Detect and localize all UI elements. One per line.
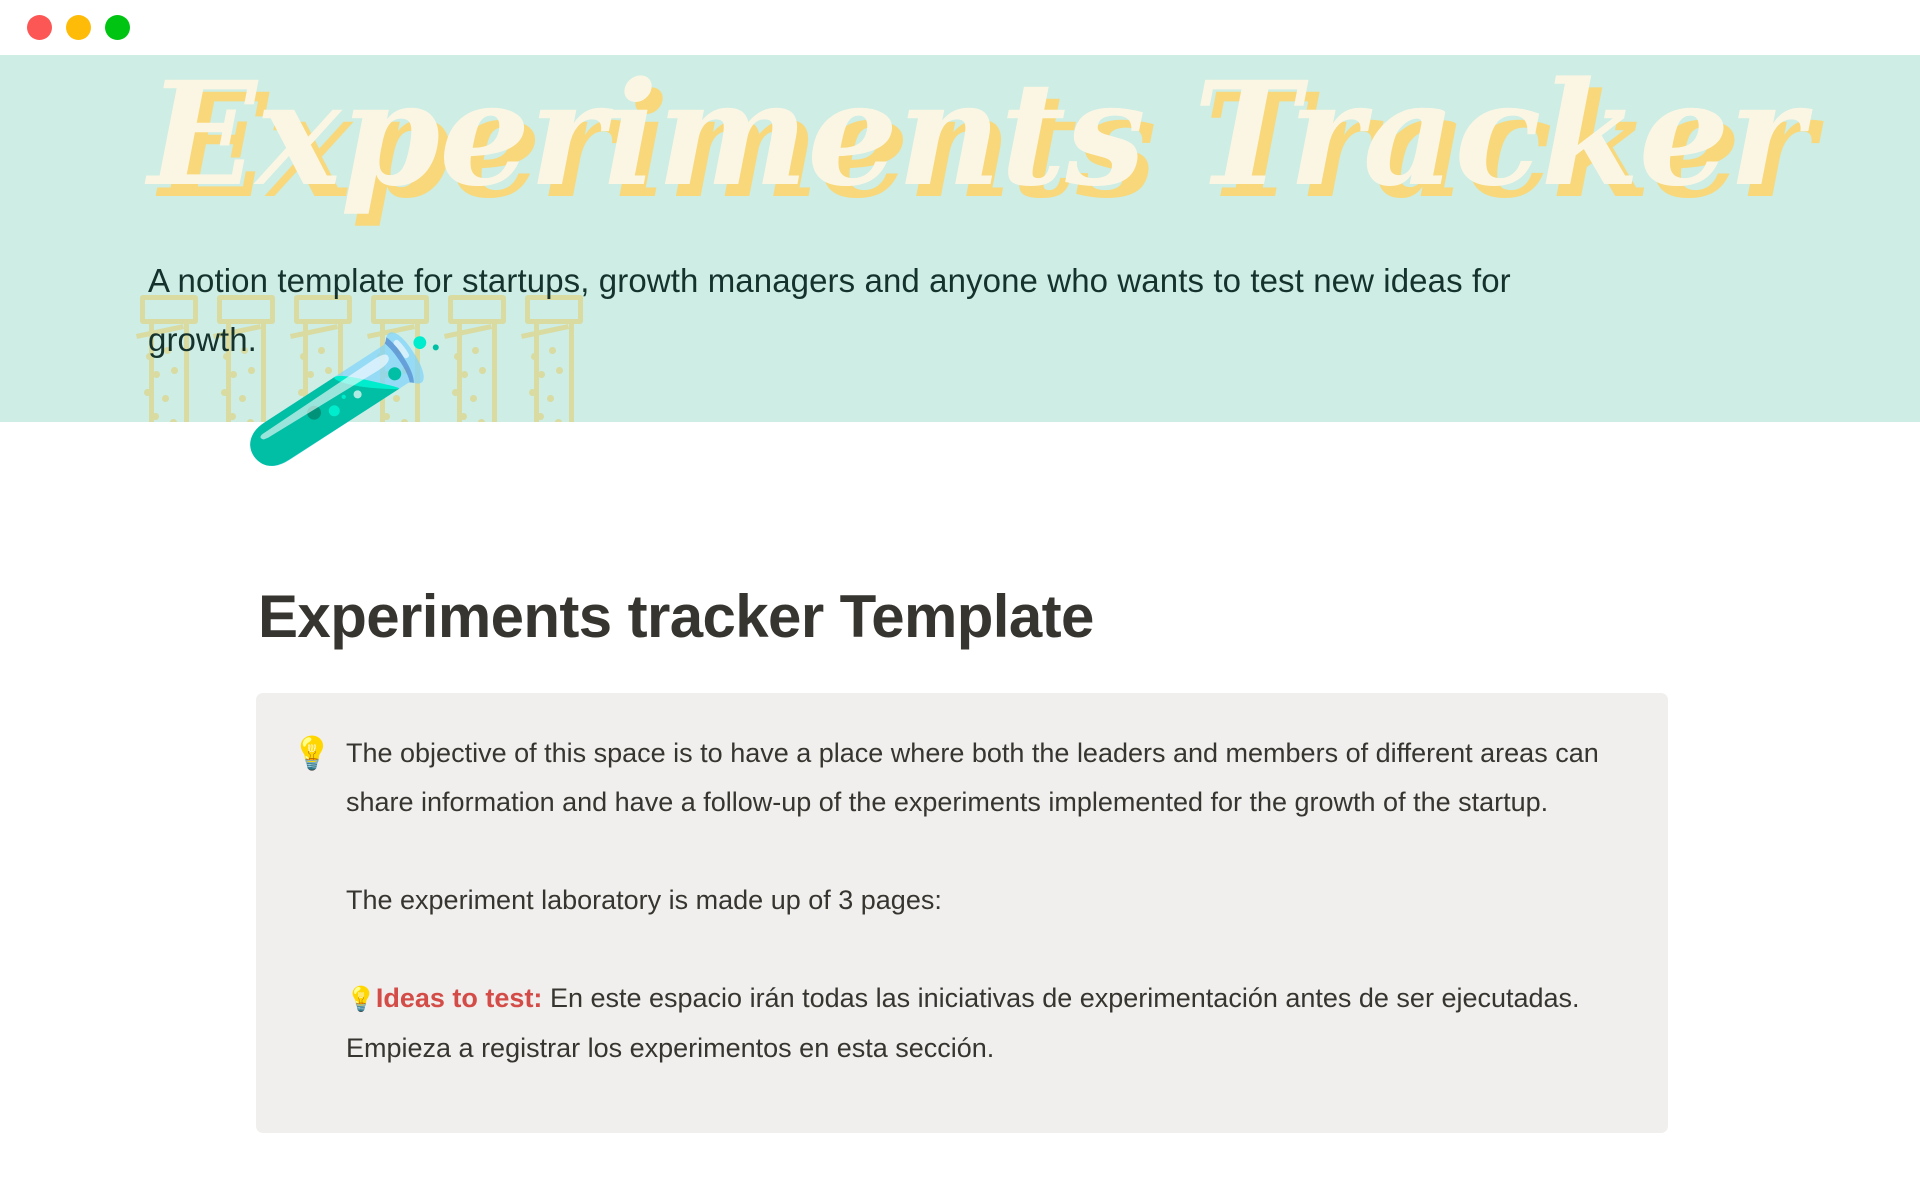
light-bulb-inline-icon: 💡: [346, 986, 376, 1013]
ideas-to-test-label[interactable]: Ideas to test:: [376, 983, 543, 1013]
callout-body: The objective of this space is to have a…: [346, 729, 1628, 1073]
callout-spacer: [346, 827, 1628, 876]
callout-spacer: [346, 925, 1628, 974]
callout-paragraph-pages: The experiment laboratory is made up of …: [346, 876, 1628, 925]
window-titlebar: [0, 0, 1920, 55]
minimize-window-button[interactable]: [66, 15, 91, 40]
close-window-button[interactable]: [27, 15, 52, 40]
banner-title: Experiments Tracker: [148, 63, 1803, 206]
app-window: Experiments Tracker A notion template fo…: [0, 0, 1920, 1200]
test-tube-emoji[interactable]: 🧪: [236, 307, 450, 493]
callout-block: 💡 The objective of this space is to have…: [256, 693, 1668, 1133]
maximize-window-button[interactable]: [105, 15, 130, 40]
light-bulb-icon: 💡: [292, 729, 346, 1073]
page-title: Experiments tracker Template: [258, 582, 1094, 651]
callout-paragraph-objective: The objective of this space is to have a…: [346, 729, 1628, 827]
callout-item-ideas-to-test: 💡Ideas to test: En este espacio irán tod…: [346, 974, 1628, 1072]
